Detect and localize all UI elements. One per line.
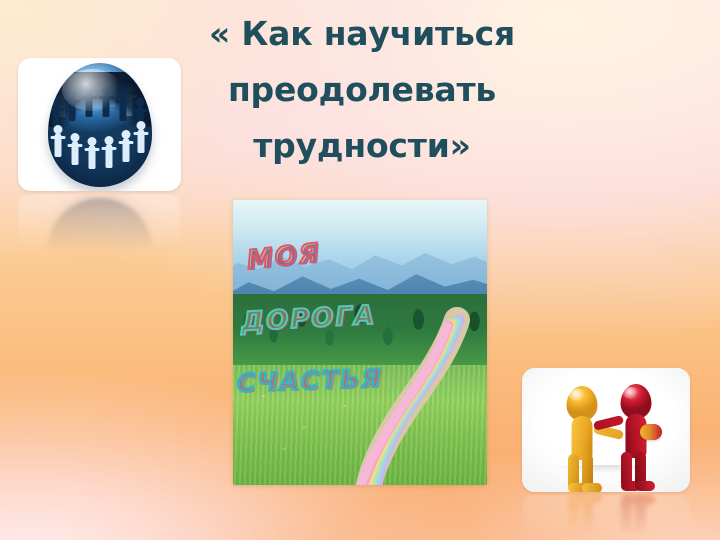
slide-title: « Как научиться преодолевать трудности» <box>152 6 572 174</box>
figure-red-leg-right <box>635 452 646 488</box>
handshake-clasped-hands-icon <box>640 424 662 440</box>
globe-people-image[interactable] <box>18 58 181 191</box>
globe-highlight <box>62 69 122 111</box>
slide-title-line-3: трудности» <box>152 118 572 174</box>
figure-yellow-leg-left <box>568 454 579 490</box>
handshake-figures-image[interactable] <box>522 368 690 492</box>
slide-title-line-1: « Как научиться <box>152 6 572 62</box>
figure-red-leg-left <box>621 452 632 488</box>
slide-title-line-2: преодолевать <box>152 62 572 118</box>
rainbow-road-landscape-image[interactable]: МОЯ ДОРОГА СЧАСТЬЯ <box>233 200 487 485</box>
figure-yellow <box>556 386 608 490</box>
globe-sphere-icon <box>48 63 152 187</box>
figure-yellow-leg-right <box>582 454 593 490</box>
presentation-slide: « Как научиться преодолевать трудности» <box>0 0 720 540</box>
globe-graphic <box>48 63 152 187</box>
graffiti-text-line-3: СЧАСТЬЯ <box>237 363 384 397</box>
